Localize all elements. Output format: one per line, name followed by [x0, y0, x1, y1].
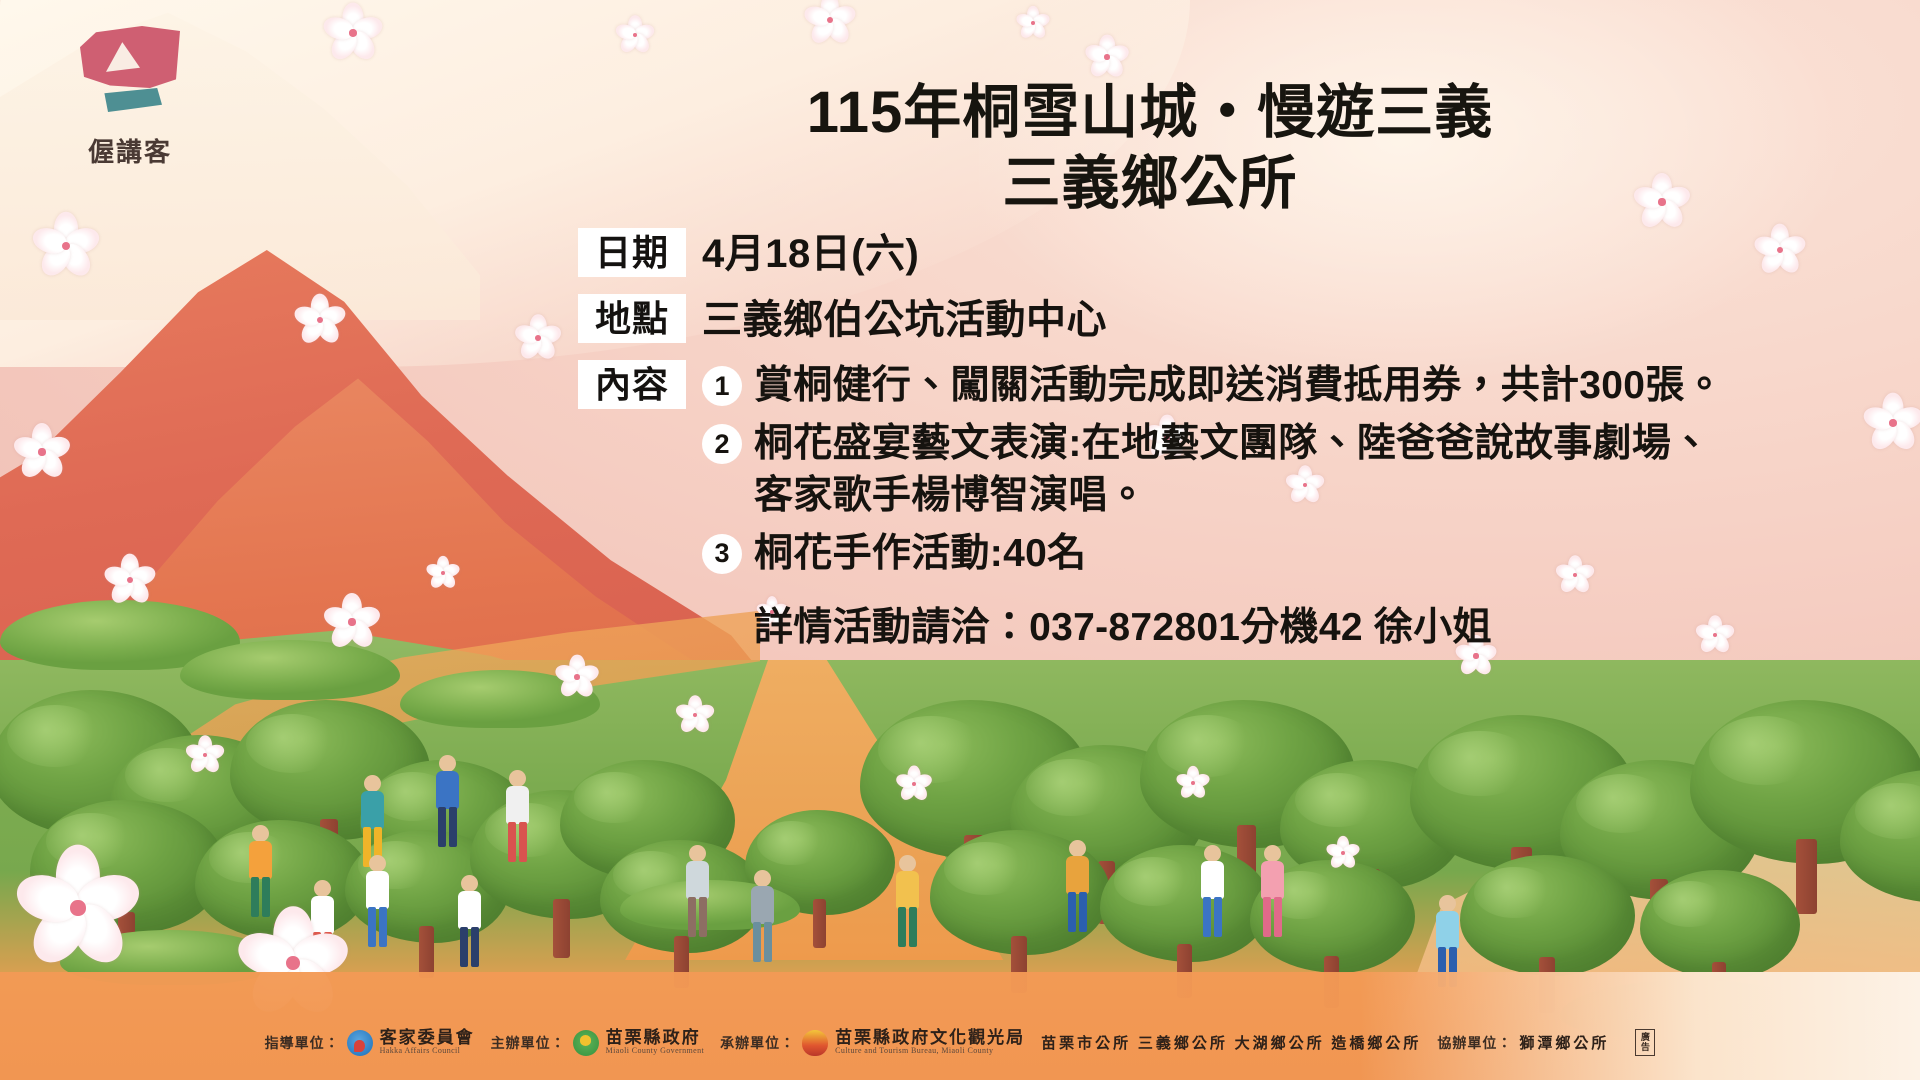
sponsor-name: 客家委員會Hakka Affairs Council: [380, 1029, 475, 1056]
person-torso: [249, 841, 272, 879]
blossom-center: [1104, 54, 1109, 59]
tung-blossom-icon: [810, 0, 850, 40]
miaoli-county-government-logo-icon: [573, 1030, 599, 1056]
content-item-line: 客家歌手楊博智演唱。: [754, 470, 1711, 522]
person-head: [439, 755, 456, 772]
person-head: [1204, 845, 1221, 862]
content-item-text: 桐花手作活動:40名: [754, 528, 1086, 580]
person-torso: [686, 861, 709, 899]
contact-info: 詳情活動請洽：037-872801分機42 徐小姐: [754, 596, 1878, 652]
content-item: 內容1賞桐健行、闖關活動完成即送消費抵用券，共計300張。: [578, 360, 1878, 412]
hakka-affairs-council-logo-icon: [347, 1030, 373, 1056]
person-leg-right: [909, 907, 917, 947]
tung-blossom-icon: [110, 560, 150, 600]
content-item-text: 賞桐健行、闖關活動完成即送消費抵用券，共計300張。: [754, 360, 1724, 412]
blossom-center: [349, 29, 356, 36]
person-head: [364, 775, 381, 792]
person-leg-left: [1203, 897, 1211, 937]
brand-logo: 偓講客: [55, 22, 205, 169]
tung-blossom-icon: [20, 430, 64, 474]
detail-row-date: 日期 4月18日(六): [578, 228, 1878, 280]
cohost-name: 獅潭鄉公所: [1519, 1032, 1609, 1053]
person-torso: [458, 891, 481, 929]
content-item-line: 桐花盛宴藝文表演:在地藝文團隊、陸爸爸說故事劇場、: [754, 418, 1711, 470]
title-line-1: 115年桐雪山城・慢遊三義: [560, 78, 1740, 149]
person-figure: [1060, 840, 1094, 936]
person-figure: [452, 875, 486, 971]
person-figure: [1255, 845, 1289, 941]
person-leg-left: [1263, 897, 1271, 937]
blossom-center: [286, 956, 300, 970]
tung-blossom-icon: [30, 860, 126, 956]
person-leg-right: [379, 907, 387, 947]
tung-blossom-icon: [1180, 770, 1206, 796]
person-leg-right: [262, 877, 270, 917]
person-leg-left: [1068, 892, 1076, 932]
person-leg-left: [688, 897, 696, 937]
person-torso: [1436, 911, 1459, 949]
footer-band-fade: [1360, 972, 1920, 1080]
content-item-line: 桐花手作活動:40名: [754, 528, 1086, 580]
tung-blossom-icon: [900, 770, 928, 798]
person-leg-right: [471, 927, 479, 967]
tung-blossom-icon: [620, 20, 650, 50]
cohost-group: 協辦單位：獅潭鄉公所: [1437, 1032, 1609, 1053]
detail-rows-content: 內容1賞桐健行、闖關活動完成即送消費抵用券，共計300張。2桐花盛宴藝文表演:在…: [578, 360, 1878, 579]
label-content: 內容: [578, 360, 686, 409]
sponsor-name-en: Miaoli County Government: [606, 1047, 704, 1056]
tung-blossom-icon: [40, 220, 92, 272]
label-date: 日期: [578, 228, 686, 277]
person-head: [509, 770, 526, 787]
person-leg-right: [1214, 897, 1222, 937]
content-item: 3桐花手作活動:40名: [578, 528, 1878, 580]
content-item-text: 桐花盛宴藝文表演:在地藝文團隊、陸爸爸說故事劇場、客家歌手楊博智演唱。: [754, 418, 1711, 522]
person-leg-left: [368, 907, 376, 947]
tung-blossom-icon: [330, 600, 374, 644]
content-tag-cell: 內容: [578, 360, 702, 409]
tung-blossom-icon: [1090, 40, 1124, 74]
sponsor-name-en: Hakka Affairs Council: [380, 1047, 475, 1056]
person-figure: [500, 770, 534, 866]
person-leg-right: [1274, 897, 1282, 937]
person-head: [369, 855, 386, 872]
person-leg-right: [519, 822, 527, 862]
tung-blossom-icon: [1330, 840, 1356, 866]
person-figure: [745, 870, 779, 966]
content-item-number: 2: [702, 424, 742, 464]
content-item-number: 1: [702, 366, 742, 406]
tung-blossom-icon: [330, 10, 376, 56]
logo-stroke-bottom: [102, 88, 162, 112]
content-item-line: 賞桐健行、闖關活動完成即送消費抵用券，共計300張。: [754, 360, 1724, 412]
blossom-center: [38, 448, 45, 455]
person-leg-left: [508, 822, 516, 862]
culture-tourism-bureau-logo-icon: [802, 1030, 828, 1056]
person-figure: [360, 855, 394, 951]
tung-blossom-icon: [1020, 10, 1046, 36]
hakka-brush-logo-icon: [70, 22, 190, 128]
tung-blossom-icon: [560, 660, 594, 694]
tung-blossom-icon: [190, 740, 220, 770]
person-torso: [436, 771, 459, 809]
event-details: 日期 4月18日(六) 地點 三義鄉伯公坑活動中心 內容1賞桐健行、闖關活動完成…: [578, 228, 1878, 652]
person-head: [899, 855, 916, 872]
person-head: [1069, 840, 1086, 857]
person-torso: [366, 871, 389, 909]
sponsor-label: 主辦單位：: [491, 1033, 566, 1053]
sponsor-name-en: Culture and Tourism Bureau, Miaoli Count…: [835, 1047, 1025, 1056]
tung-blossom-icon: [520, 320, 556, 356]
logo-stroke-top: [80, 26, 180, 88]
person-head: [314, 880, 331, 897]
person-head: [689, 845, 706, 862]
value-date: 4月18日(六): [702, 228, 919, 280]
person-head: [754, 870, 771, 887]
sponsor-group: 承辦單位：苗栗縣政府文化觀光局Culture and Tourism Burea…: [720, 1029, 1025, 1056]
label-place: 地點: [578, 294, 686, 343]
blossom-center: [1473, 653, 1478, 658]
person-head: [1439, 895, 1456, 912]
tung-blossom-icon: [680, 700, 710, 730]
sponsor-group: 主辦單位：苗栗縣政府Miaoli County Government: [491, 1029, 704, 1056]
blossom-center: [535, 335, 541, 341]
detail-row-place: 地點 三義鄉伯公坑活動中心: [578, 294, 1878, 346]
sponsor-name: 苗栗縣政府文化觀光局Culture and Tourism Bureau, Mi…: [835, 1029, 1025, 1056]
person-torso: [751, 886, 774, 924]
person-torso: [1201, 861, 1224, 899]
person-leg-right: [764, 922, 772, 962]
person-figure: [430, 755, 464, 851]
person-torso: [506, 786, 529, 824]
person-figure: [1195, 845, 1229, 941]
value-place: 三義鄉伯公坑活動中心: [702, 294, 1107, 346]
sponsor-name-cn: 苗栗縣政府文化觀光局: [835, 1029, 1025, 1047]
person-head: [461, 875, 478, 892]
sponsor-name-cn: 客家委員會: [380, 1029, 475, 1047]
person-leg-left: [251, 877, 259, 917]
tree-trunk: [813, 899, 827, 948]
ad-badge: 廣告: [1635, 1029, 1655, 1056]
person-head: [1264, 845, 1281, 862]
tree-trunk: [419, 926, 434, 978]
content-item-number: 3: [702, 534, 742, 574]
person-figure: [680, 845, 714, 941]
person-figure: [243, 825, 277, 921]
person-torso: [1066, 856, 1089, 894]
sponsor-name: 苗栗縣政府Miaoli County Government: [606, 1029, 704, 1056]
person-figure: [890, 855, 924, 951]
person-leg-left: [898, 907, 906, 947]
person-leg-right: [1079, 892, 1087, 932]
tung-blossom-icon: [300, 300, 340, 340]
sponsor-label: 承辦單位：: [720, 1033, 795, 1053]
blossom-center: [70, 900, 85, 915]
tree: [1840, 770, 1920, 940]
sponsor-label: 指導單位：: [265, 1033, 340, 1053]
cohost-label: 協辦單位：: [1437, 1033, 1512, 1053]
blossom-center: [574, 674, 579, 679]
partner-offices: 苗栗市公所 三義鄉公所 大湖鄉公所 造橋鄉公所: [1041, 1032, 1421, 1053]
blossom-center: [1889, 419, 1896, 426]
person-torso: [896, 871, 919, 909]
tree-crown: [1840, 770, 1920, 903]
person-leg-left: [460, 927, 468, 967]
logo-text: 偓講客: [55, 132, 205, 169]
blossom-center: [348, 618, 355, 625]
event-poster: 偓講客 115年桐雪山城・慢遊三義 三義鄉公所 日期 4月18日(六) 地點 三…: [0, 0, 1920, 1080]
sponsor-group: 指導單位：客家委員會Hakka Affairs Council: [265, 1029, 475, 1056]
person-leg-right: [449, 807, 457, 847]
person-leg-left: [438, 807, 446, 847]
sponsor-bar: 指導單位：客家委員會Hakka Affairs Council主辦單位：苗栗縣政…: [0, 1029, 1920, 1056]
person-torso: [361, 791, 384, 829]
person-torso: [1261, 861, 1284, 899]
content-item: 2桐花盛宴藝文表演:在地藝文團隊、陸爸爸說故事劇場、客家歌手楊博智演唱。: [578, 418, 1878, 522]
title-line-2: 三義鄉公所: [560, 149, 1740, 220]
tung-blossom-icon: [430, 560, 456, 586]
person-head: [252, 825, 269, 842]
person-leg-right: [699, 897, 707, 937]
page-title: 115年桐雪山城・慢遊三義 三義鄉公所: [560, 78, 1740, 220]
sponsor-name-cn: 苗栗縣政府: [606, 1029, 704, 1047]
person-leg-left: [753, 922, 761, 962]
